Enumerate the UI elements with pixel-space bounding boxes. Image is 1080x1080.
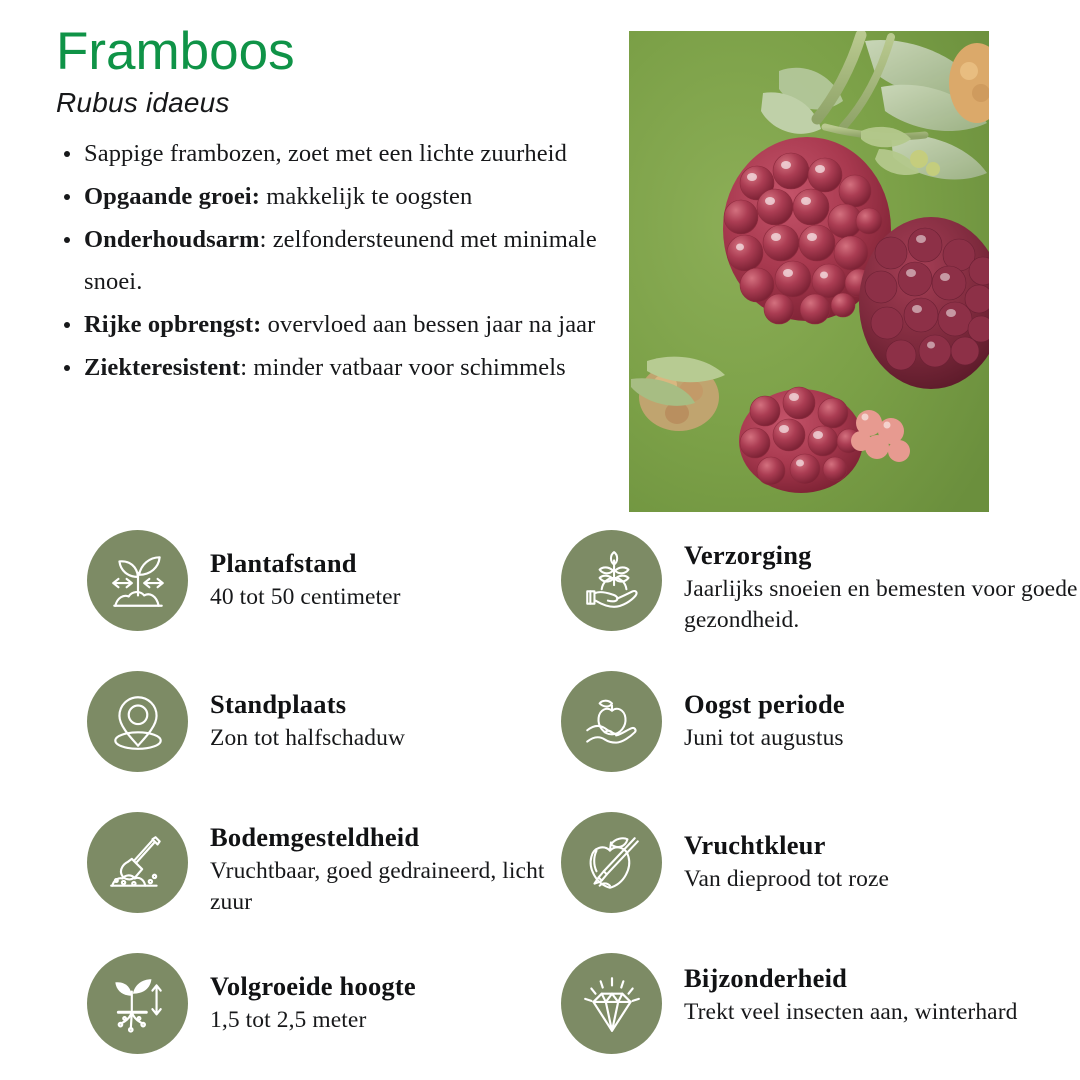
hand-plant-icon: [561, 530, 662, 631]
list-item: Rijke opbrengst: overvloed aan bessen ja…: [56, 304, 616, 346]
fact-verzorging: Verzorging Jaarlijks snoeien en bemesten…: [561, 530, 1080, 636]
fact-bodemgesteldheid: Bodemgesteldheid Vruchtbaar, goed gedrai…: [87, 812, 580, 918]
fact-text: Standplaats Zon tot halfschaduw: [210, 671, 580, 754]
fact-text: Bodemgesteldheid Vruchtbaar, goed gedrai…: [210, 812, 580, 918]
fact-title: Volgroeide hoogte: [210, 972, 580, 1002]
plant-info-card: Framboos Rubus idaeus Sappige frambozen,…: [0, 0, 1080, 1080]
fact-desc: Trekt veel insecten aan, winterhard: [684, 997, 1080, 1028]
fact-text: Vruchtkleur Van dieprood tot roze: [684, 812, 1080, 895]
fact-title: Plantafstand: [210, 549, 580, 579]
map-pin-icon: [87, 671, 188, 772]
latin-name: Rubus idaeus: [56, 87, 616, 119]
list-item-bold: Opgaande groei:: [84, 183, 260, 210]
fact-title: Bijzonderheid: [684, 964, 1080, 994]
plant-height-icon: [87, 953, 188, 1054]
list-item-text: overvloed aan bessen jaar na jaar: [261, 311, 595, 338]
list-item: Sappige frambozen, zoet met een lichte z…: [56, 133, 616, 175]
list-item-bold: Ziekteresistent: [84, 354, 240, 381]
fact-title: Standplaats: [210, 690, 580, 720]
fact-vruchtkleur: Vruchtkleur Van dieprood tot roze: [561, 812, 1080, 913]
fact-desc: Van dieprood tot roze: [684, 864, 1080, 895]
list-item: Opgaande groei: makkelijk te oogsten: [56, 176, 616, 218]
fact-text: Verzorging Jaarlijks snoeien en bemesten…: [684, 530, 1080, 636]
fact-plantafstand: Plantafstand 40 tot 50 centimeter: [87, 530, 580, 631]
feature-list: Sappige frambozen, zoet met een lichte z…: [56, 133, 616, 390]
list-item-text: makkelijk te oogsten: [260, 183, 472, 210]
list-item-bold: Onderhoudsarm: [84, 226, 260, 253]
fact-volgroeide-hoogte: Volgroeide hoogte 1,5 tot 2,5 meter: [87, 953, 580, 1054]
raspberry-photo: [629, 31, 989, 512]
fact-title: Verzorging: [684, 541, 1080, 571]
plant-spacing-icon: [87, 530, 188, 631]
fact-text: Volgroeide hoogte 1,5 tot 2,5 meter: [210, 953, 580, 1036]
list-item: Onderhoudsarm: zelfondersteunend met min…: [56, 219, 616, 303]
list-item-text: : minder vatbaar voor schimmels: [240, 354, 566, 381]
fact-title: Bodemgesteldheid: [210, 823, 580, 853]
fact-oogst-periode: Oogst periode Juni tot augustus: [561, 671, 1080, 772]
list-item-bold: Rijke opbrengst:: [84, 311, 261, 338]
fact-title: Oogst periode: [684, 690, 1080, 720]
fact-desc: Zon tot halfschaduw: [210, 723, 580, 754]
fact-standplaats: Standplaats Zon tot halfschaduw: [87, 671, 580, 772]
facts-grid: Plantafstand 40 tot 50 centimeter Standp…: [0, 516, 1080, 1080]
list-item-text: Sappige frambozen, zoet met een lichte z…: [84, 140, 567, 167]
page-title: Framboos: [56, 24, 616, 80]
fact-desc: Jaarlijks snoeien en bemesten voor goede…: [684, 574, 1080, 636]
fact-title: Vruchtkleur: [684, 831, 1080, 861]
fact-desc: 1,5 tot 2,5 meter: [210, 1005, 580, 1036]
shovel-soil-icon: [87, 812, 188, 913]
hand-apple-icon: [561, 671, 662, 772]
fact-desc: Juni tot augustus: [684, 723, 1080, 754]
apple-paintbrush-icon: [561, 812, 662, 913]
fact-bijzonderheid: Bijzonderheid Trekt veel insecten aan, w…: [561, 953, 1080, 1054]
fact-text: Bijzonderheid Trekt veel insecten aan, w…: [684, 953, 1080, 1028]
fact-desc: Vruchtbaar, goed gedraineerd, licht zuur: [210, 856, 580, 918]
intro-section: Framboos Rubus idaeus Sappige frambozen,…: [56, 24, 616, 390]
diamond-icon: [561, 953, 662, 1054]
fact-desc: 40 tot 50 centimeter: [210, 582, 580, 613]
fact-text: Plantafstand 40 tot 50 centimeter: [210, 530, 580, 613]
fact-text: Oogst periode Juni tot augustus: [684, 671, 1080, 754]
list-item: Ziekteresistent: minder vatbaar voor sch…: [56, 347, 616, 389]
